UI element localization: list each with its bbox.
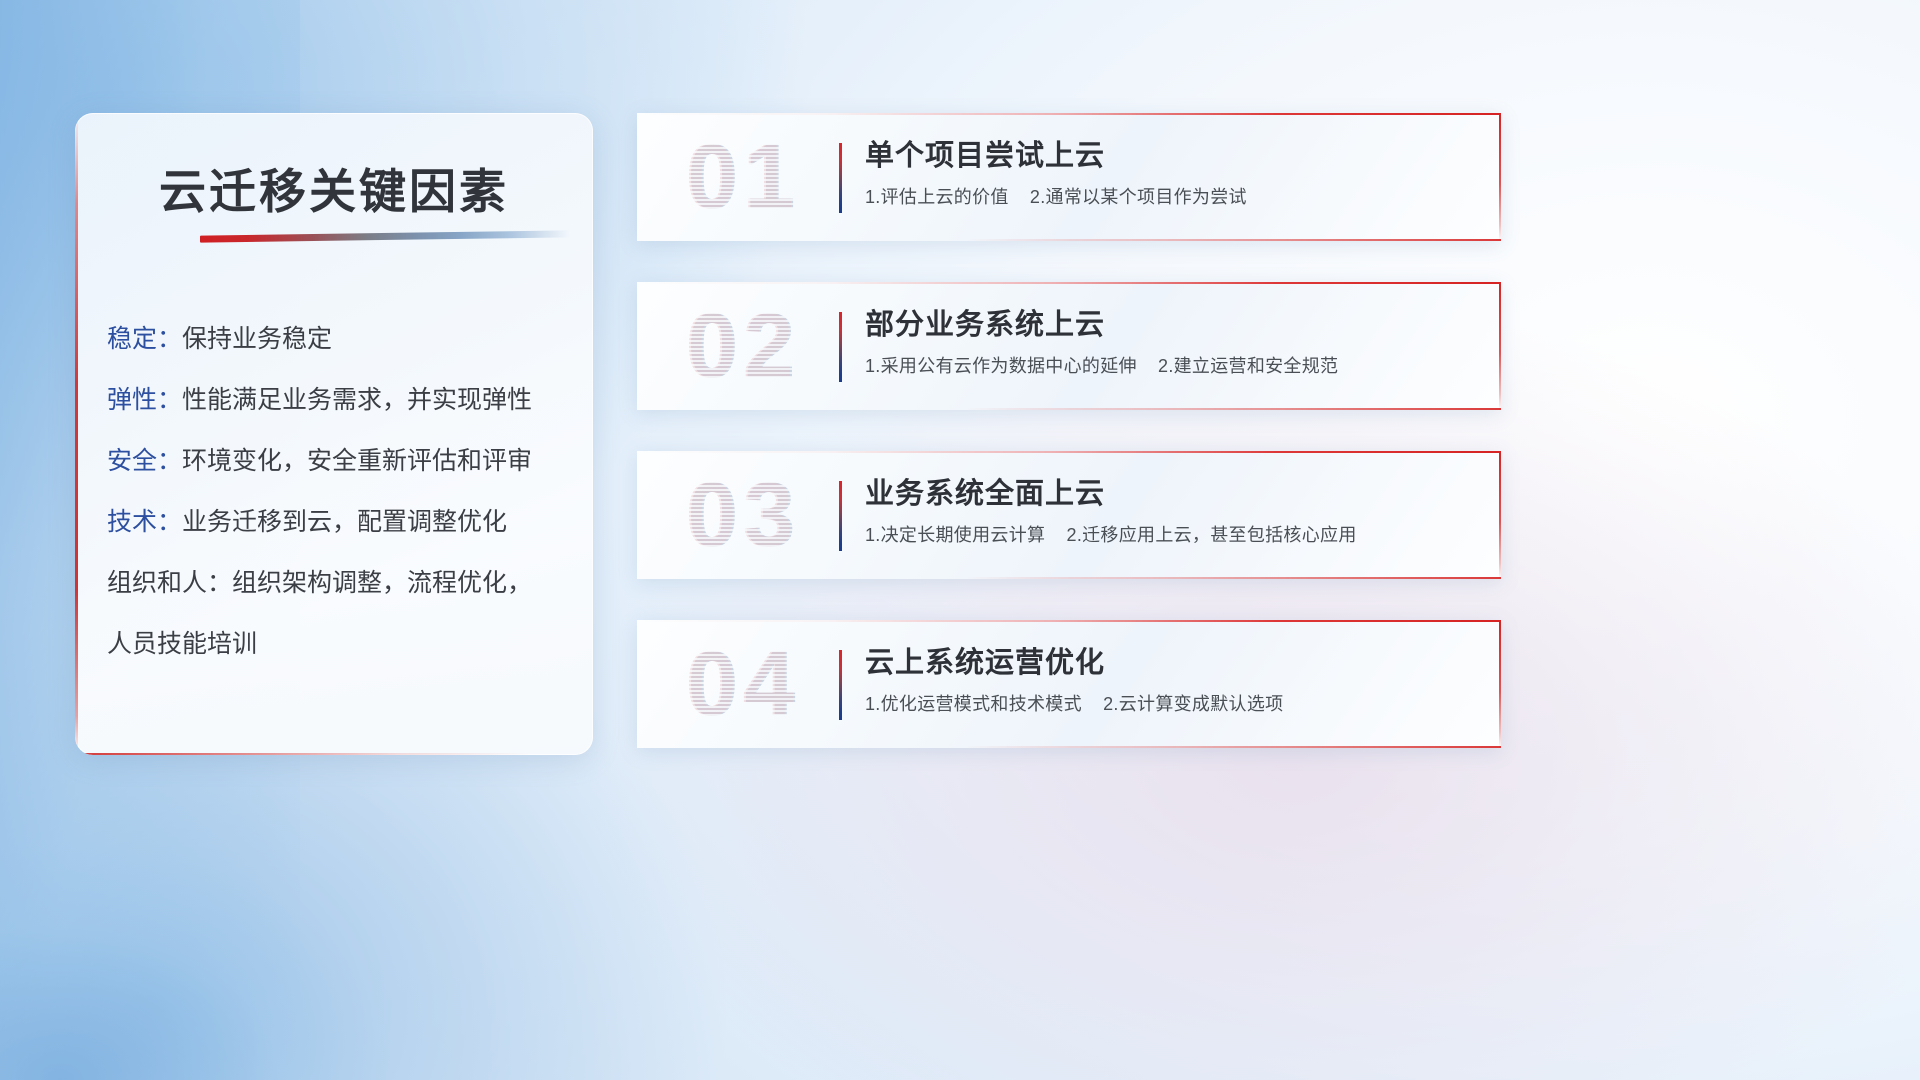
card-number-ghost: 03 bbox=[655, 463, 830, 567]
list-item-text: 性能满足业务需求，并实现弹性 bbox=[182, 386, 532, 414]
card-subtitle: 1.优化运营模式和技术模式 2.云计算变成默认选项 bbox=[865, 691, 1471, 717]
slide-canvas: 云迁移关键因素 稳定：保持业务稳定 弹性：性能满足业务需求，并实现弹性 安全：环… bbox=[0, 0, 1920, 1080]
list-item: 稳定：保持业务稳定 bbox=[107, 309, 569, 370]
card-top-accent bbox=[637, 282, 1501, 284]
panel-bottom-accent bbox=[75, 753, 593, 756]
card-number-watermark: 03 03 bbox=[657, 463, 832, 567]
stage-card[interactable]: 04 04 云上系统运营优化 1.优化运营模式和技术模式 2.云计算变成默认选项 bbox=[637, 620, 1501, 748]
card-right-accent bbox=[1499, 451, 1501, 579]
title-underline-rule bbox=[200, 230, 570, 242]
list-item-text: 环境变化，安全重新评估和评审 bbox=[182, 447, 532, 475]
card-number-ghost: 02 bbox=[655, 294, 830, 398]
card-body: 单个项目尝试上云 1.评估上云的价值 2.通常以某个项目作为尝试 bbox=[865, 135, 1471, 210]
key-factors-panel: 云迁移关键因素 稳定：保持业务稳定 弹性：性能满足业务需求，并实现弹性 安全：环… bbox=[75, 113, 593, 755]
card-bottom-accent bbox=[965, 746, 1501, 748]
card-body: 业务系统全面上云 1.决定长期使用云计算 2.迁移应用上云，甚至包括核心应用 bbox=[865, 473, 1471, 548]
list-item-key: 技术： bbox=[107, 508, 182, 536]
list-item: 弹性：性能满足业务需求，并实现弹性 bbox=[107, 370, 569, 431]
list-item: 组织和人：组织架构调整，流程优化， bbox=[107, 553, 569, 614]
list-item-text: 保持业务稳定 bbox=[182, 325, 332, 353]
card-divider-bar bbox=[839, 481, 842, 551]
card-body: 云上系统运营优化 1.优化运营模式和技术模式 2.云计算变成默认选项 bbox=[865, 642, 1471, 717]
card-bottom-accent bbox=[965, 577, 1501, 579]
card-right-accent bbox=[1499, 113, 1501, 241]
card-top-accent bbox=[637, 620, 1501, 622]
card-number-ghost: 04 bbox=[655, 632, 830, 736]
card-top-accent bbox=[637, 451, 1501, 453]
list-item: 技术：业务迁移到云，配置调整优化 bbox=[107, 492, 569, 553]
card-right-accent bbox=[1499, 620, 1501, 748]
list-item-key: 稳定： bbox=[107, 325, 182, 353]
card-divider-bar bbox=[839, 143, 842, 213]
stage-card[interactable]: 03 03 业务系统全面上云 1.决定长期使用云计算 2.迁移应用上云，甚至包括… bbox=[637, 451, 1501, 579]
stage-card[interactable]: 02 02 部分业务系统上云 1.采用公有云作为数据中心的延伸 2.建立运营和安… bbox=[637, 282, 1501, 410]
card-title: 业务系统全面上云 bbox=[865, 473, 1471, 515]
list-item-key: 弹性： bbox=[107, 386, 182, 414]
card-number-watermark: 04 04 bbox=[657, 632, 832, 736]
card-number-watermark: 02 02 bbox=[657, 294, 832, 398]
card-title: 云上系统运营优化 bbox=[865, 642, 1471, 684]
card-top-accent bbox=[637, 113, 1501, 115]
stage-card-list: 01 01 单个项目尝试上云 1.评估上云的价值 2.通常以某个项目作为尝试 0… bbox=[637, 113, 1501, 789]
stage-card[interactable]: 01 01 单个项目尝试上云 1.评估上云的价值 2.通常以某个项目作为尝试 bbox=[637, 113, 1501, 241]
card-body: 部分业务系统上云 1.采用公有云作为数据中心的延伸 2.建立运营和安全规范 bbox=[865, 304, 1471, 379]
card-right-accent bbox=[1499, 282, 1501, 410]
card-number-watermark: 01 01 bbox=[657, 125, 832, 229]
card-title: 部分业务系统上云 bbox=[865, 304, 1471, 346]
card-title: 单个项目尝试上云 bbox=[865, 135, 1471, 177]
card-divider-bar bbox=[839, 650, 842, 720]
card-bottom-accent bbox=[965, 239, 1501, 241]
list-item: 人员技能培训 bbox=[107, 614, 569, 675]
card-number-ghost: 01 bbox=[655, 125, 830, 229]
card-subtitle: 1.评估上云的价值 2.通常以某个项目作为尝试 bbox=[865, 184, 1471, 210]
key-factors-list: 稳定：保持业务稳定 弹性：性能满足业务需求，并实现弹性 安全：环境变化，安全重新… bbox=[107, 309, 569, 675]
list-item-text: 业务迁移到云，配置调整优化 bbox=[182, 508, 507, 536]
list-item: 安全：环境变化，安全重新评估和评审 bbox=[107, 431, 569, 492]
list-item-text: 组织和人：组织架构调整，流程优化， bbox=[107, 569, 532, 597]
card-subtitle: 1.采用公有云作为数据中心的延伸 2.建立运营和安全规范 bbox=[865, 353, 1471, 379]
card-divider-bar bbox=[839, 312, 842, 382]
page-title: 云迁移关键因素 bbox=[75, 153, 593, 222]
card-subtitle: 1.决定长期使用云计算 2.迁移应用上云，甚至包括核心应用 bbox=[865, 522, 1471, 548]
card-bottom-accent bbox=[965, 408, 1501, 410]
list-item-key: 安全： bbox=[107, 447, 182, 475]
list-item-text: 人员技能培训 bbox=[107, 630, 257, 658]
